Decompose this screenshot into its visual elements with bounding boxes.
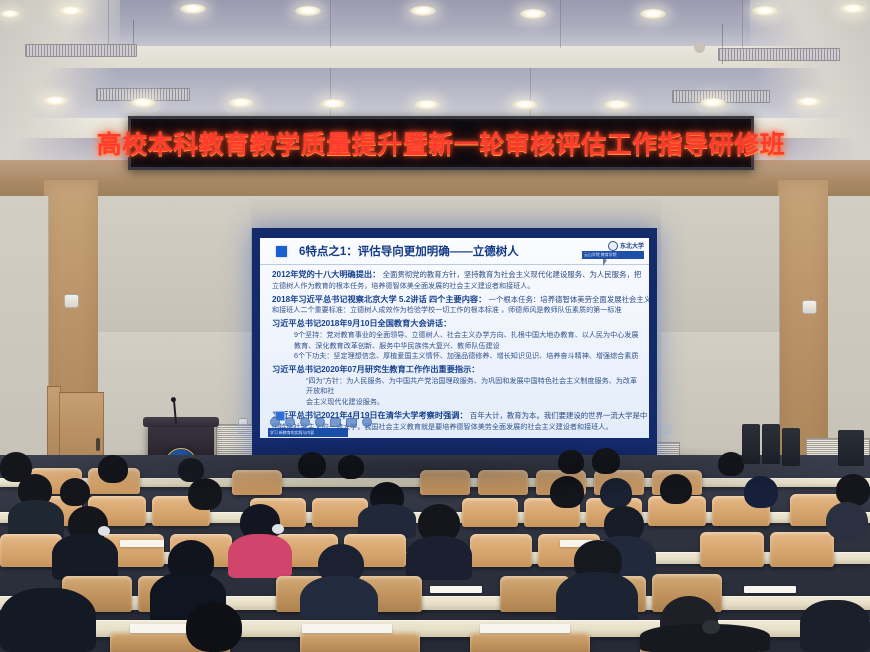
subtitles-icon[interactable]	[346, 418, 357, 427]
desk-paper	[120, 540, 164, 547]
ambient-shadow	[0, 440, 870, 500]
ceiling-downlight	[414, 100, 440, 110]
screen-corner-marker	[662, 424, 671, 433]
previous-slide-icon[interactable]	[270, 417, 280, 427]
more-options-icon[interactable]	[362, 417, 372, 427]
ceiling-downlight	[320, 99, 346, 109]
seat[interactable]	[470, 632, 590, 652]
audience-body	[800, 600, 870, 652]
zoom-icon[interactable]	[330, 418, 341, 427]
slide-block-line: 9个坚持：党对教育事业的全面领导、立德树人、社会主义办学方向、扎根中国大地办教育…	[272, 330, 639, 351]
slide-bullet-square-icon	[276, 246, 287, 257]
slide-body: 2012年党的十八大明确提出： 全面贯彻党的教育方针，坚持教育为社会主义现代化建…	[260, 265, 649, 432]
next-slide-icon[interactable]	[285, 417, 295, 427]
projection-screen: 6特点之1：评估导向更加明确——立德树人 东北大学 云山学院 教育学院	[252, 228, 657, 466]
ceiling-downlight	[42, 96, 68, 106]
seat[interactable]	[470, 534, 532, 567]
audience-body	[52, 534, 118, 580]
led-banner-panel: 高校本科教育教学质量提升暨新一轮审核评估工作指导研修班	[134, 122, 748, 164]
ceiling-seam	[330, 0, 331, 48]
ceiling-seam	[560, 0, 561, 48]
university-name: 东北大学	[620, 241, 644, 250]
ceiling-seam	[108, 0, 109, 48]
ceiling-downlight	[228, 98, 254, 108]
ceiling-downlight	[58, 6, 84, 16]
slide-surface: 6特点之1：评估导向更加明确——立德树人 东北大学 云山学院 教育学院	[260, 238, 649, 438]
ceiling-downlight	[0, 10, 20, 18]
wall-panel	[828, 196, 870, 469]
slide-block-heading: 习近平总书记2020年07月研究生教育工作作出重要指示：	[272, 364, 639, 376]
desk-paper	[302, 624, 392, 633]
wall-panel	[98, 196, 174, 333]
seat[interactable]	[700, 532, 764, 567]
slide-block-heading: 2012年党的十八大明确提出： 全面贯彻党的教育方针，坚持教育为社会主义现代化建…	[272, 269, 639, 281]
presentation-slide: 6特点之1：评估导向更加明确——立德树人 东北大学 云山学院 教育学院	[260, 238, 649, 438]
slideshow-toolbar[interactable]	[270, 417, 372, 427]
wall-panel	[721, 196, 780, 333]
ceiling-downlight	[840, 4, 866, 14]
wall-panel	[456, 196, 662, 229]
auditorium-photo: 高校本科教育教学质量提升暨新一轮审核评估工作指导研修班 6特点之1：评估导向更加…	[0, 0, 870, 652]
wall-wood-column-right	[778, 180, 828, 468]
face-mask-icon	[702, 620, 720, 634]
ceiling-downlight	[796, 97, 822, 107]
wall-sensor-icon	[64, 294, 79, 308]
slide-block-heading: 习近平总书记2018年9月10日全国教育大会讲话：	[272, 318, 639, 330]
desk-paper	[430, 586, 482, 593]
audience-head	[186, 602, 242, 652]
logo-bar: 云山学院 教育学院	[582, 251, 644, 259]
desk-paper	[480, 624, 570, 633]
all-slides-icon[interactable]	[315, 417, 325, 427]
slide-title-bar: 6特点之1：评估导向更加明确——立德树人 东北大学 云山学院 教育学院	[260, 238, 649, 265]
wall-panel	[0, 196, 49, 469]
face-mask-icon	[98, 526, 110, 536]
wall-panel	[661, 196, 722, 333]
ceiling-downlight	[640, 9, 666, 19]
audience-body	[358, 504, 416, 538]
face-mask-icon	[272, 524, 284, 534]
logo-bar-text: 云山学院 教育学院	[584, 252, 617, 257]
slide-block: 2012年党的十八大明确提出： 全面贯彻党的教育方针，坚持教育为社会主义现代化建…	[272, 269, 639, 292]
slide-block: 习近平总书记2018年9月10日全国教育大会讲话： 9个坚持：党对教育事业的全面…	[272, 318, 639, 362]
taskbar-label: 学习 新教育的实践与内容	[270, 430, 314, 435]
audience-body	[0, 588, 96, 652]
university-seal-icon	[608, 241, 618, 251]
slide-block-line: “四为”方针：为人民服务、为中国共产党治国理政服务、为巩固和发展中国特色社会主义…	[272, 376, 639, 397]
slide-block-line: 立德树人作为教育的根本任务，培养德智体美全面发展的社会主义建设者和接班人。	[272, 281, 639, 292]
slide-block: 习近平总书记2020年07月研究生教育工作作出重要指示： “四为”方针：为人民服…	[272, 364, 639, 408]
slide-block-line: 6个下功夫：坚定理想信念、厚植爱国主义情怀、加强品德修养、增长知识见识、培养奋斗…	[272, 351, 639, 362]
seat[interactable]	[770, 532, 834, 567]
ceiling-downlight	[180, 4, 206, 14]
wall-panel	[173, 196, 252, 333]
audience-body	[406, 536, 472, 580]
ceiling-downlight	[520, 9, 546, 19]
slide-block-heading: 2018年习近平总书记视察北京大学 5.2讲话 四个主要内容： 一个根本任务：培…	[272, 294, 639, 306]
air-vent	[25, 44, 137, 57]
ceiling-downlight	[130, 98, 156, 108]
ceiling-downlight	[700, 98, 726, 108]
led-banner-text: 高校本科教育教学质量提升暨新一轮审核评估工作指导研修班	[97, 125, 786, 161]
screen-corner-marker	[238, 424, 247, 433]
taskbar-item[interactable]: 学习 新教育的实践与内容	[268, 428, 348, 437]
ceiling-seam	[530, 68, 531, 120]
ceiling-downlight	[295, 6, 321, 16]
university-logo: 东北大学 云山学院 教育学院	[582, 241, 644, 260]
pen-tool-icon[interactable]	[300, 417, 310, 427]
seat[interactable]	[300, 632, 420, 652]
slide-title: 6特点之1：评估导向更加明确——立德树人	[299, 243, 519, 259]
mouse-cursor-icon	[603, 258, 607, 266]
audience-body-pink-coat	[228, 534, 292, 578]
ceiling-downlight	[752, 6, 778, 16]
ceiling-coffer-back	[0, 0, 870, 48]
ceiling-downlight	[604, 100, 630, 110]
lectern-top	[143, 417, 219, 427]
audience-head	[826, 502, 868, 540]
wall-panel	[251, 196, 457, 229]
ceiling-seam	[330, 68, 331, 120]
slide-block: 2018年习近平总书记视察北京大学 5.2讲话 四个主要内容： 一个根本任务：培…	[272, 294, 639, 317]
logo-row: 东北大学	[582, 241, 644, 250]
slide-block-line: 和接班人二个重要标准：立德树人成效作为检验学校一切工作的根本标准 ，师德师风是教…	[272, 305, 639, 316]
led-banner: 高校本科教育教学质量提升暨新一轮审核评估工作指导研修班	[128, 116, 754, 170]
air-vent	[718, 48, 840, 61]
desk-paper	[744, 586, 796, 593]
ceiling-downlight	[512, 100, 538, 110]
ceiling-seam	[742, 0, 743, 48]
seat[interactable]	[462, 498, 518, 527]
slide-block-line: 会主义现代化建设服务。	[272, 397, 639, 408]
ceiling-downlight	[410, 6, 436, 16]
wall-sensor-icon	[802, 300, 817, 314]
